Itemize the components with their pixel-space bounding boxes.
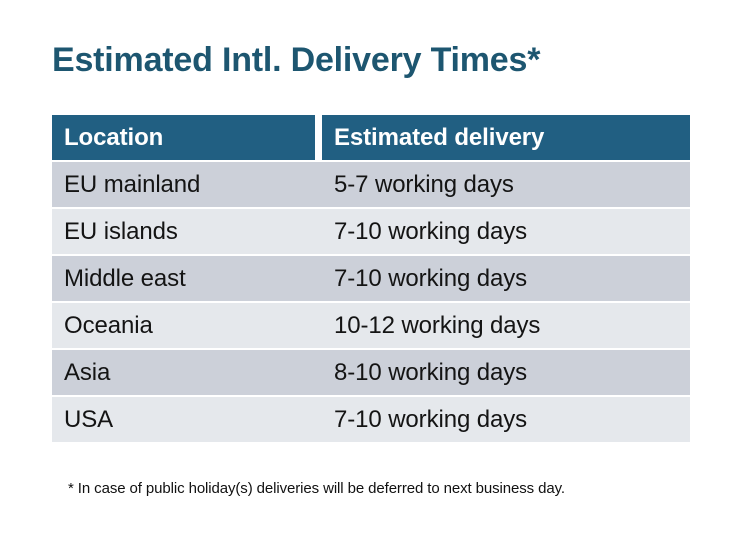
column-divider	[315, 397, 322, 442]
column-divider	[315, 303, 322, 348]
table-header-row: Location Estimated delivery	[52, 115, 690, 160]
cell-location: Asia	[52, 350, 315, 395]
table-row: EU mainland 5-7 working days	[52, 162, 690, 207]
cell-estimated-delivery: 10-12 working days	[322, 303, 690, 348]
footnote: * In case of public holiday(s) deliverie…	[68, 480, 708, 497]
delivery-times-card: Estimated Intl. Delivery Times* Location…	[0, 0, 745, 536]
column-header-estimated-delivery: Estimated delivery	[322, 115, 690, 160]
table-row: Oceania 10-12 working days	[52, 303, 690, 348]
column-divider	[315, 256, 322, 301]
page-title: Estimated Intl. Delivery Times*	[52, 36, 712, 84]
cell-location: Middle east	[52, 256, 315, 301]
column-divider	[315, 350, 322, 395]
column-divider	[315, 115, 322, 160]
cell-location: EU islands	[52, 209, 315, 254]
cell-estimated-delivery: 5-7 working days	[322, 162, 690, 207]
table-row: USA 7-10 working days	[52, 397, 690, 442]
cell-location: Oceania	[52, 303, 315, 348]
table-row: Asia 8-10 working days	[52, 350, 690, 395]
table-row: Middle east 7-10 working days	[52, 256, 690, 301]
cell-estimated-delivery: 7-10 working days	[322, 397, 690, 442]
cell-estimated-delivery: 8-10 working days	[322, 350, 690, 395]
cell-estimated-delivery: 7-10 working days	[322, 209, 690, 254]
delivery-times-table: Location Estimated delivery EU mainland …	[52, 115, 690, 444]
cell-location: USA	[52, 397, 315, 442]
column-header-location: Location	[52, 115, 315, 160]
column-divider	[315, 162, 322, 207]
cell-location: EU mainland	[52, 162, 315, 207]
table-row: EU islands 7-10 working days	[52, 209, 690, 254]
cell-estimated-delivery: 7-10 working days	[322, 256, 690, 301]
column-divider	[315, 209, 322, 254]
